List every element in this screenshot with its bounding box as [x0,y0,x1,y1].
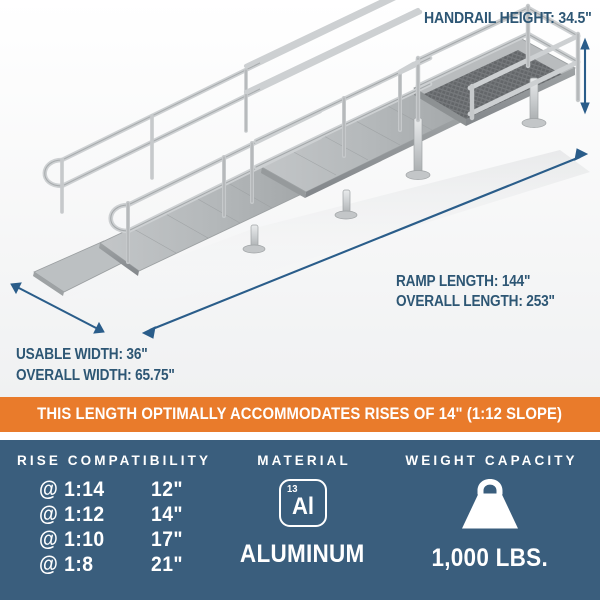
rise-row-value: 14" [151,502,183,527]
ramp-illustration: HANDRAIL HEIGHT: 34.5" RAMP LENGTH: 144"… [0,0,600,397]
spec-material: MATERIAL 13 Al ALUMINUM [225,440,380,600]
spec-rise-compatibility: RISE COMPATIBILITY @ 1:14 12" @ 1:12 14"… [0,440,225,600]
spec-weight-capacity: WEIGHT CAPACITY 1,000 LBS. [380,440,600,600]
overall-length-label: OVERALL LENGTH: 253" [396,292,555,311]
spec-panel: RISE COMPATIBILITY @ 1:14 12" @ 1:12 14"… [0,440,600,600]
rise-compatibility-table: @ 1:14 12" @ 1:12 14" @ 1:10 17" @ 1:8 2… [39,477,185,577]
handrail-height-label: HANDRAIL HEIGHT: 34.5" [424,9,592,28]
rise-row-slope: @ 1:10 [39,527,105,552]
weight-icon [456,477,524,536]
rise-row-slope: @ 1:8 [39,552,105,577]
slope-banner: THIS LENGTH OPTIMALLY ACCOMMODATES RISES… [0,397,600,432]
weight-capacity-value: 1,000 LBS. [432,544,549,573]
aluminum-element-icon: 13 Al [279,479,327,527]
rise-row-value: 12" [151,477,183,502]
usable-width-label: USABLE WIDTH: 36" [16,345,148,364]
material-value: ALUMINUM [240,540,365,569]
rise-row-slope: @ 1:14 [39,477,105,502]
rise-row-value: 17" [151,527,183,552]
rise-row-value: 21" [151,552,183,577]
slope-banner-text: THIS LENGTH OPTIMALLY ACCOMMODATES RISES… [38,405,563,424]
rise-row-slope: @ 1:12 [39,502,105,527]
element-symbol: Al [282,494,322,520]
weight-capacity-heading: WEIGHT CAPACITY [402,453,577,468]
ramp-length-label: RAMP LENGTH: 144" [396,272,530,291]
rise-compatibility-heading: RISE COMPATIBILITY [14,453,211,468]
material-heading: MATERIAL [254,453,351,468]
ramp-spec-infographic: HANDRAIL HEIGHT: 34.5" RAMP LENGTH: 144"… [0,0,600,600]
overall-width-label: OVERALL WIDTH: 65.75" [16,366,175,385]
